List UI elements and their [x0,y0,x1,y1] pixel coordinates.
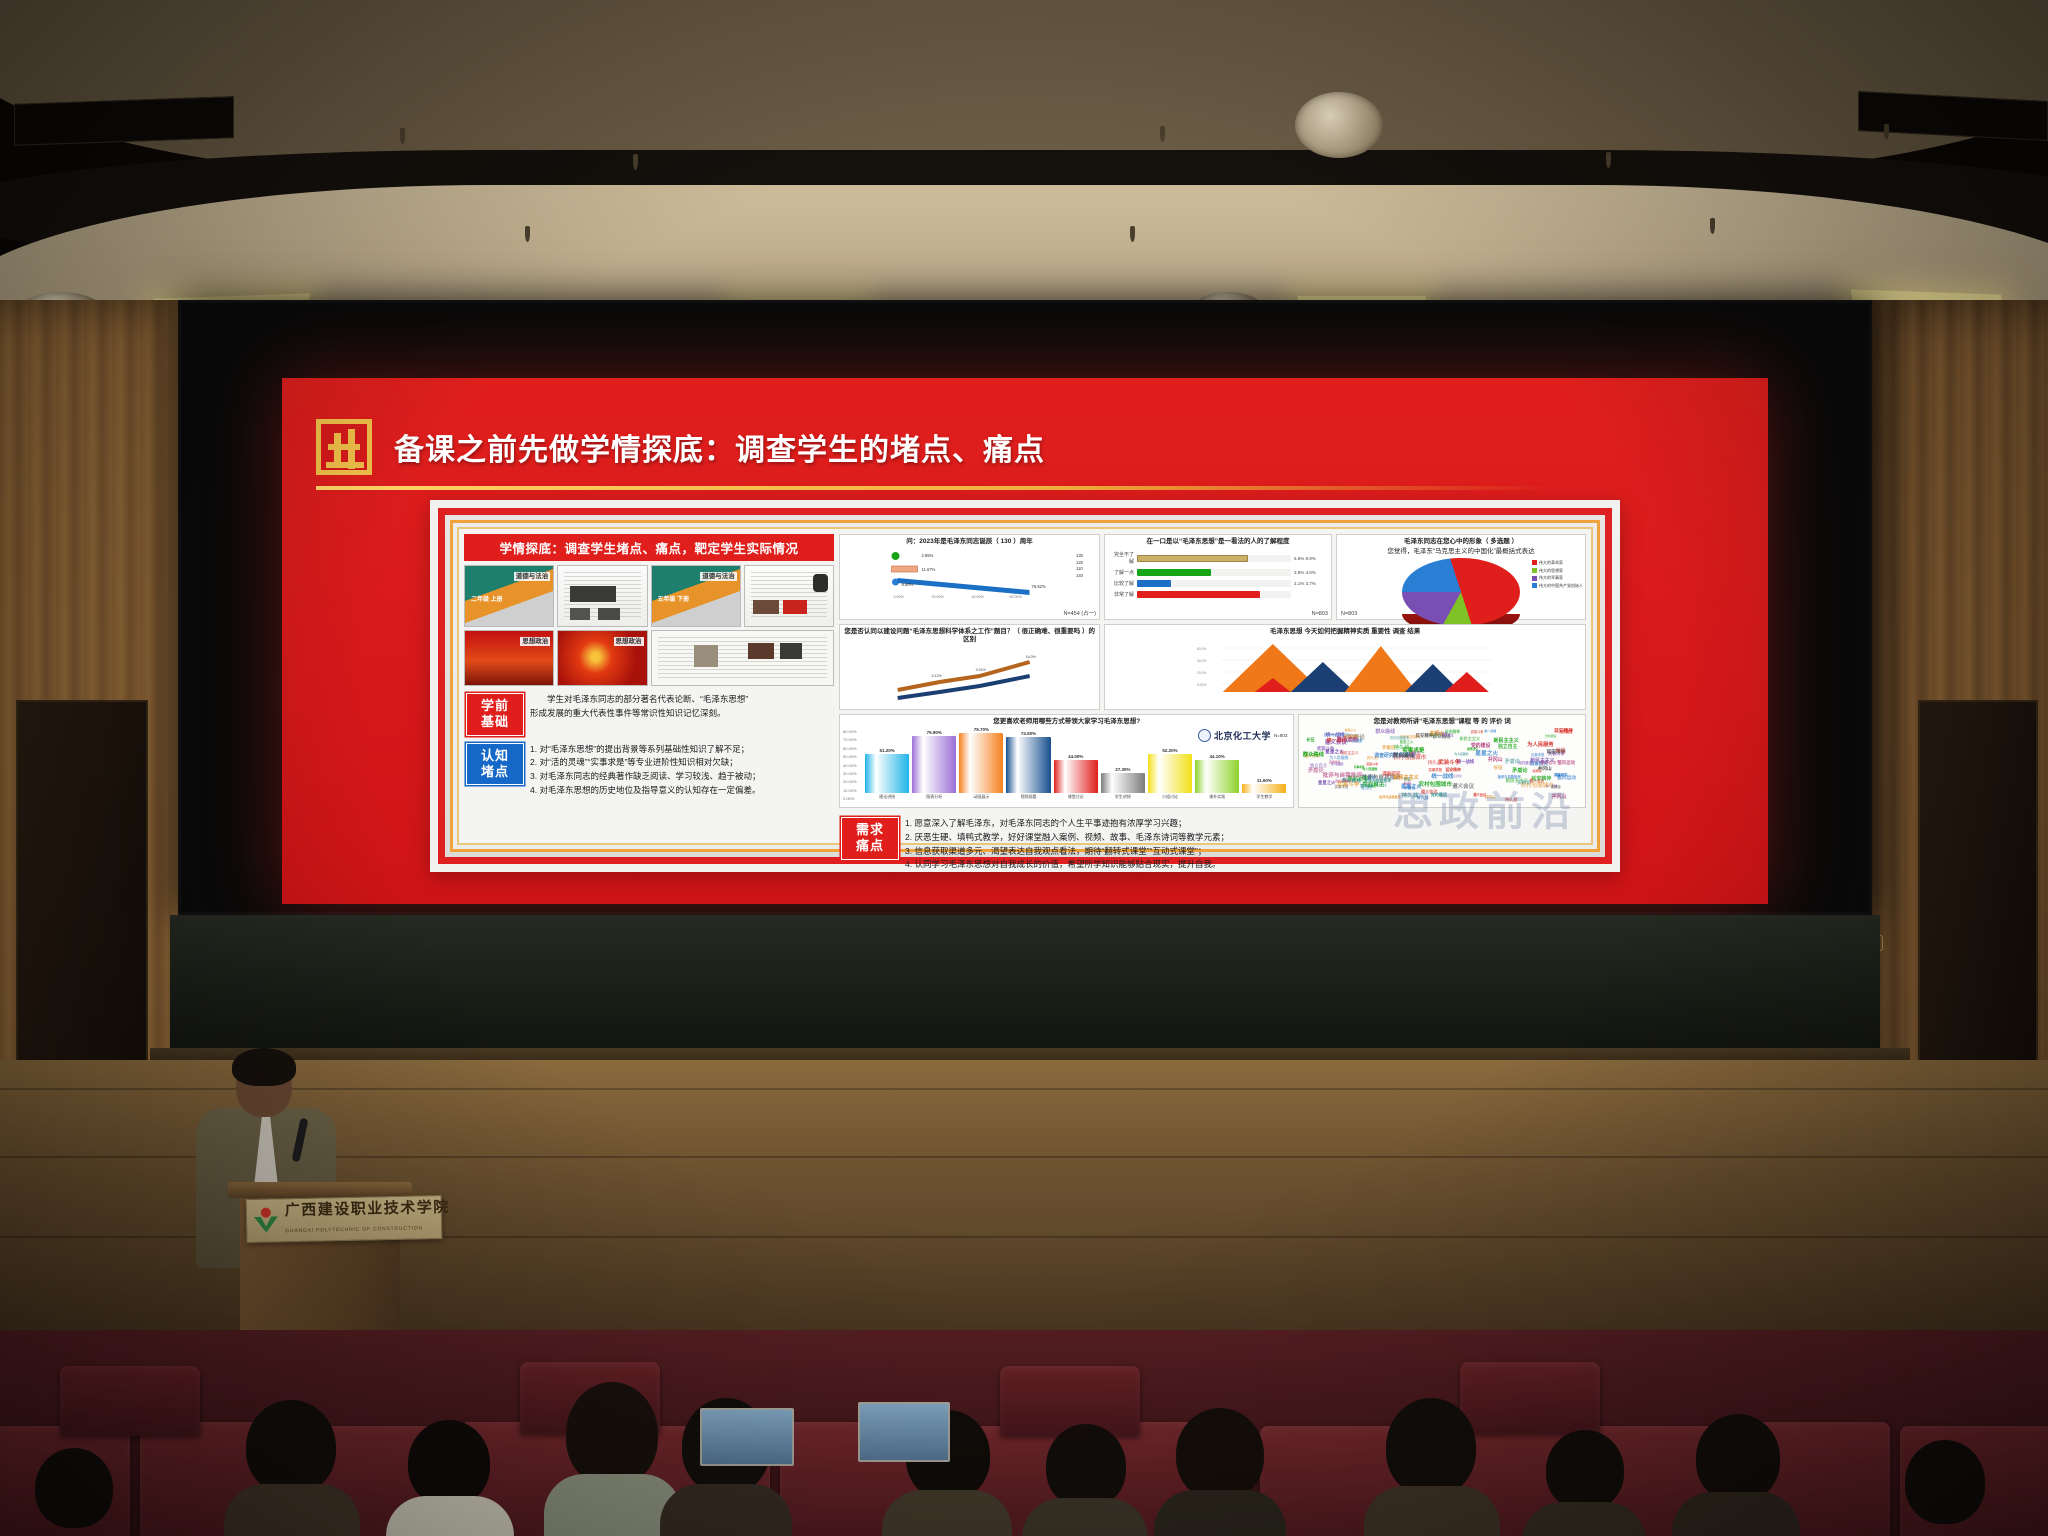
chart-wordcloud: 您是对教师所讲“毛泽东思想”课程 等 的 评价 词 实事求是群众路线独立自主矛盾… [1298,714,1586,808]
wordcloud-word: 井冈山 [1488,756,1503,763]
bar [1054,760,1098,793]
wordcloud-word: 持久战 [1428,760,1442,766]
poster-red-frame: 学情探底：调查学生堵点、痛点，靶定学生实际情况 道德与法治 二年级 上册 [438,508,1612,864]
wordcloud-word: 矛盾论 [1505,758,1520,765]
bar-category: 图表分析 [926,794,942,800]
audience-member [560,1382,664,1536]
bar [1006,737,1050,793]
bar-category: 理论讲授 [879,794,895,800]
chart-grade-line: 问：2023年是毛泽东同志诞辰（ 130 ）周年 2.85% 11.67% [839,534,1100,620]
wordcloud-word: 井冈山 [1485,795,1496,800]
pie-3d-graphic [1402,558,1520,634]
badge-needs-pain: 需求痛点 [841,817,899,860]
audience-member [236,1400,346,1536]
hbar-list: 完全不了解 5.6% 8.9% 了解一点 3.8% 4.0% [1108,548,1328,601]
wordcloud-word: 实践论 [1551,784,1561,789]
bar-column: 51.20%理论讲授 [865,748,909,800]
wordcloud-word: 党的建设 [1471,742,1491,749]
wordcloud-word: 批评与自我批评 [1379,794,1400,799]
y-tick: 50.00% [843,754,857,759]
text-line: 学生对毛泽东同志的部分著名代表论断、“毛泽东思想” [530,693,748,706]
bar-column: 74.50%视频观看 [1006,731,1050,800]
audience-member [30,1448,118,1536]
chart-methods-bar: 您更喜欢老师用哪些方式带领大家学习毛泽东思想? 北京化工大学 N=803 80.… [839,714,1294,808]
org-logo-group: 北京化工大学 N=803 [1198,729,1287,742]
textbook-cover: 道德与法治 五年级 下册 [651,565,741,627]
audience-member [1380,1398,1484,1536]
wordcloud-word: 延安精神 [1532,775,1552,782]
wordcloud-word: 长征 [1494,765,1503,771]
wordcloud-word: 持久战 [1417,795,1429,801]
bar [1148,754,1192,793]
text-line: 1. 对“毛泽东思想”的提出背景等系列基础性知识了解不足； [530,743,760,756]
wordcloud-word: 群众路线 [1303,750,1324,758]
chart-row-bottom: 您更喜欢老师用哪些方式带领大家学习毛泽东思想? 北京化工大学 N=803 80.… [839,714,1586,808]
wordcloud-word: 党的建设 [1545,734,1556,738]
bar-column: 75.90%图表分析 [912,730,956,800]
block-cognitive-text: 1. 对“毛泽东思想”的提出背景等系列基础性知识了解不足； 2. 对“活的灵魂”… [530,743,760,798]
y-tick: 0.00% [843,796,857,801]
plaque-name-en: GUANGXI POLYTECHNIC OF CONSTRUCTION [285,1225,423,1234]
wordcloud-word: 遵义会议 [1421,789,1438,795]
sprinkler [400,128,405,144]
text-line: 1. 愿意深入了解毛泽东，对毛泽东同志的个人生平事迹抱有浓厚学习兴趣； [905,817,1229,830]
svg-text:5.12%: 5.12% [932,674,943,678]
wordcloud-word: 武装斗争 [1438,758,1460,766]
ceiling-spotlight-1 [1295,92,1383,158]
svg-text:2.85%: 2.85% [922,553,934,558]
bar-category: 学生教学 [1256,794,1272,800]
chart-subtitle: 您觉得，毛泽东“马克思主义的中国化”最概括式表达 [1340,548,1582,556]
audience-member [1540,1430,1630,1536]
wordcloud-word: 批评与自我批评 [1323,770,1362,779]
block-pre-knowledge: 学前基础 学生对毛泽东同志的部分著名代表论断、“毛泽东思想” 形成发展的重大代表… [464,690,834,736]
legend-item: 伟大的军事家 [1532,574,1583,582]
audience-member [400,1420,498,1536]
bar-value: 11.60% [1257,778,1272,783]
chart-understanding-hbar: 在一口是以“毛泽东思想”是一看法的人的了解程度 完全不了解 5.6% 8.9% [1104,534,1332,620]
bar-column: 79.70%动画展示 [959,727,1003,800]
chart-title: 您更喜欢老师用哪些方式带领大家学习毛泽东思想? [843,718,1290,726]
legend-item: 伟大的中国共产党创始人 [1532,582,1583,590]
line-pair-svg: 5.12% 9.01% 16.0% [843,646,1096,702]
bar-category: 课堂讨论 [1068,794,1084,800]
wordcloud-word: 井冈山 [1551,793,1566,800]
bar-column: 44.00%课堂讨论 [1054,754,1098,800]
wordcloud-word: 实事求是 [1402,746,1424,754]
y-tick: 30.00% [843,771,857,776]
wordcloud-word: 群众路线 [1375,728,1395,735]
hbar-row: 完全不了解 5.6% 8.9% [1112,551,1324,565]
bar [1242,784,1286,793]
bar-column: 11.60%学生教学 [1242,778,1286,800]
block-cognitive-blocks: 认知堵点 1. 对“毛泽东思想”的提出背景等系列基础性知识了解不足； 2. 对“… [464,740,834,798]
ceiling [0,0,2048,330]
hbar-label: 比较了解 [1112,580,1134,587]
wordcloud-word: 实事求是 [1329,760,1340,764]
wordcloud-word: 实践论 [1453,774,1462,778]
textbook-title: 道德与法治 [514,572,551,581]
sprinkler [633,154,638,170]
laptop[interactable] [700,1408,794,1466]
legend-item: 伟大的思想家 [1532,567,1583,575]
wordcloud-word: 延安精神 [1554,728,1573,734]
wordcloud-word: 持久战 [1505,797,1517,803]
chart-pie: 毛泽东同志在您心中的形象（ 多选题 ） 您觉得，毛泽东“马克思主义的中国化”最概… [1336,534,1586,620]
line-chart-svg: 2.85% 11.67% 8.86% 76.62% 0.00% 20.00% 4… [843,548,1096,600]
wordcloud-word: 遵义会议 [1452,782,1474,790]
textbook-grid: 道德与法治 二年级 上册 道德与法治 [464,565,834,686]
door-right[interactable] [1918,700,2038,1080]
bar [959,733,1003,793]
y-tick: 10.00% [843,788,857,793]
wordcloud-word: 星星之火 [1345,728,1356,732]
svg-text:76.62%: 76.62% [1032,584,1046,589]
projection-screen: 备课之前先做学情探底：调查学生的堵点、痛点 学情探底：调查学生堵点、痛点，靶定学… [282,378,1768,904]
bar-category: 学生讲授 [1115,794,1131,800]
legend-item: 伟大的革命家 [1532,559,1583,567]
block-needs-text: 1. 愿意深入了解毛泽东，对毛泽东同志的个人生平事迹抱有浓厚学习兴趣； 2. 厌… [905,817,1229,872]
hbar-label: 非常了解 [1112,591,1134,598]
org-name: 北京化工大学 [1214,729,1271,742]
poster-left-column: 学情探底：调查学生堵点、痛点，靶定学生实际情况 道德与法治 二年级 上册 [464,534,834,838]
auditorium-photo: 休息室 Lounge 休息室 Lounge 备课之前先做学情探底：调查学生的堵点… [0,0,2048,1536]
bar-value: 79.70% [974,727,989,732]
sprinkler [525,226,530,242]
wordcloud-word: 实事求是 [1354,765,1365,769]
bar-column: 27.30%学生讲授 [1101,767,1145,801]
poster-body: 学情探底：调查学生堵点、痛点，靶定学生实际情况 道德与法治 二年级 上册 [457,527,1593,845]
y-axis-ticks: 80.00% 70.00% 60.00% 50.00% 40.00% 30.00… [843,729,857,801]
wordcloud-word: 星星之火 [1318,780,1335,786]
svg-text:8.86%: 8.86% [902,582,914,587]
bar [865,754,909,793]
textbook-cover: 思想政治 [464,630,554,686]
door-left[interactable] [16,700,148,1080]
wordcloud-word: 批评与自我批评 [1364,779,1391,784]
chart-sample-size: N=803 [1274,733,1287,738]
textbook-grade: 五年级 下册 [658,594,690,603]
sprinkler [1884,124,1889,140]
audience-member [1690,1414,1786,1536]
wordcloud-word: 统一战线 [1431,772,1453,780]
svg-text:0.00%: 0.00% [894,595,905,599]
university-logo-icon [253,1207,280,1234]
wordcloud-word: 新民主主义 [1394,774,1419,781]
hbar-label: 完全不了解 [1112,551,1134,565]
svg-text:60.0%: 60.0% [1197,647,1207,651]
seat [60,1366,200,1436]
text-line: 3. 信息获取渠道多元、渴望表达自我观点看法，期待“翻转式课堂”“互动式课堂”； [905,845,1229,858]
wordcloud-word: 独立自主 [1310,763,1327,769]
bar-value: 44.00% [1068,754,1083,759]
chart-sample-size: N=803 [1312,611,1328,617]
block-needs-pain: 需求痛点 1. 愿意深入了解毛泽东，对毛泽东同志的个人生平事迹抱有浓厚学习兴趣；… [839,814,1586,872]
poster-right-column: 问：2023年是毛泽东同志诞辰（ 130 ）周年 2.85% 11.67% [839,534,1586,838]
chart-line-pair: 您是否认同以建设问题“毛泽东思想科学体系之工作”题目？（ 很正确难、很重要吗 ）… [839,624,1100,710]
text-line: 2. 对“活的灵魂”“实事求是”等专业进阶性知识相对欠缺； [530,756,760,769]
bar-column: 44.10%课外实践 [1195,754,1239,800]
wordcloud-word: 矛盾论 [1512,767,1528,774]
poster-banner: 学情探底：调查学生堵点、痛点，靶定学生实际情况 [464,534,834,561]
poster-container: 学情探底：调查学生堵点、痛点，靶定学生实际情况 道德与法治 二年级 上册 [430,500,1620,872]
audience-member [1170,1408,1270,1536]
wordcloud-word: 为人民服务 [1527,740,1553,748]
svg-text:40.0%: 40.0% [1197,659,1207,663]
wordcloud-word: 星星之火 [1401,783,1422,790]
hbar-row: 了解一点 3.8% 4.0% [1112,569,1324,576]
y-tick: 60.00% [843,746,857,751]
wordcloud-word: 武装斗争 [1366,762,1378,766]
wordcloud-word: 武装斗争 [1471,729,1484,734]
wordcloud-word: 实事求是 [1531,752,1544,757]
hbar-row: 比较了解 2.1% 3.7% [1112,580,1324,587]
poster-orange-frame: 学情探底：调查学生堵点、痛点，靶定学生实际情况 道德与法治 二年级 上册 [450,520,1600,852]
university-seal-icon [1198,729,1211,742]
chart-title: 您是否认同以建设问题“毛泽东思想科学体系之工作”题目？（ 很正确难、很重要吗 ）… [843,628,1096,644]
sprinkler [1130,226,1135,242]
chart-title: 毛泽东思想 今天如何把握精神实质 重要性 调查 结果 [1108,628,1582,636]
bar-category: 课外实践 [1209,794,1225,800]
bar-value: 74.50% [1021,731,1036,736]
textbook-title: 思想政治 [520,637,550,646]
sprinkler [1710,218,1715,234]
wordcloud-word: 整风运动 [1337,736,1358,743]
wordcloud-word: 独立自主 [1498,743,1517,750]
title-underline [316,486,1556,490]
wordcloud-word: 为人民服务 [1454,752,1468,756]
bar-value: 27.30% [1115,767,1130,772]
textbook-title: 道德与法治 [700,572,737,581]
chart-sample-size: N=803 [1341,611,1357,617]
textbook-cover: 道德与法治 二年级 上册 [464,565,554,627]
wordcloud-word: 新民主主义 [1340,751,1358,756]
chart-option-list: 130 120 110 140 [1076,553,1083,579]
bar-value: 51.20% [879,748,894,753]
area-chart-svg: 60.0% 40.0% 20.0% 0.00% [1108,638,1582,696]
badge-pre-knowledge: 学前基础 [466,693,524,736]
audience-member [1040,1424,1132,1536]
badge-cognitive-blocks: 认知堵点 [466,743,524,786]
chart-title: 毛泽东同志在您心中的形象（ 多选题 ） [1340,538,1582,546]
wordcloud-word: 农村包围城市 [1390,735,1409,740]
svg-text:0.00%: 0.00% [1197,683,1207,687]
bar-value: 52.20% [1162,748,1177,753]
svg-text:11.67%: 11.67% [922,567,936,572]
block-pre-knowledge-text: 学生对毛泽东同志的部分著名代表论断、“毛泽东思想” 形成发展的重大代表性事件等常… [530,693,748,721]
bar-category: 动画展示 [973,794,989,800]
textbook-title: 思想政治 [614,637,644,646]
wordcloud-word: 农村包围城市 [1419,780,1452,788]
chart-row-top: 问：2023年是毛泽东同志诞辰（ 130 ）周年 2.85% 11.67% [839,534,1586,620]
wordcloud-area: 实事求是群众路线独立自主矛盾论实践论持久战星星之火为人民服务农村包围城市调查研究… [1302,728,1582,804]
bar [912,736,956,793]
chart-title: 您是对教师所讲“毛泽东思想”课程 等 的 评价 词 [1302,718,1582,726]
wordcloud-word: 为人民服务 [1362,766,1377,771]
option: 130 [1076,553,1083,560]
y-tick: 80.00% [843,729,857,734]
hbar-row: 非常了解 [1112,591,1324,598]
svg-text:20.00%: 20.00% [932,595,945,599]
wordcloud-word: 长征 [1306,737,1314,743]
audience-member [1900,1440,1992,1536]
sprinkler [1160,126,1165,142]
y-tick: 20.00% [843,779,857,784]
textbook-spread [651,630,835,686]
textbook-page [744,565,834,627]
wordcloud-word: 遵义会议 [1473,792,1486,797]
ceiling-vent-left [14,96,234,146]
text-line: 4. 认同学习毛泽东思想对自我成长的价值，希望所学知识能够贴合现实，提升自我。 [905,858,1229,871]
hbar-label: 了解一点 [1112,569,1134,576]
wordcloud-word: 井冈山 [1430,730,1445,737]
wordcloud-word: 统一战线 [1484,729,1496,733]
bar-value: 44.10% [1210,754,1225,759]
text-line: 2. 厌恶生硬、填鸭式教学，好好课堂融入案例、视频、故事、毛泽东诗词等教学元素； [905,831,1229,844]
laptop[interactable] [858,1402,950,1462]
chart-sample-size: N=454 (占一) [1063,609,1096,617]
textbook-page [557,565,647,627]
textbook-cover: 思想政治 [557,630,647,686]
svg-text:60.00%: 60.00% [1010,595,1023,599]
wordcloud-word: 调查研究 [1554,772,1567,777]
chart-row-middle: 您是否认同以建设问题“毛泽东思想科学体系之工作”题目？（ 很正确难、很重要吗 ）… [839,624,1586,710]
bar [1195,760,1239,793]
wordcloud-word: 实践论 [1517,780,1531,786]
chinese-seal-icon [316,419,372,475]
wordcloud-word: 持久战 [1402,791,1418,799]
svg-text:9.01%: 9.01% [976,668,987,672]
wordcloud-word: 整风运动 [1557,760,1575,766]
podium-plaque: 广西建设职业技术学院 GUANGXI POLYTECHNIC OF CONSTR… [246,1195,443,1243]
svg-text:20.0%: 20.0% [1197,671,1207,675]
y-tick: 40.00% [843,763,857,768]
wordcloud-word: 实践论 [1532,768,1541,773]
wordcloud-word: 调查研究 [1374,752,1394,759]
slide-title: 备课之前先做学情探底：调查学生的堵点、痛点 [394,425,1045,469]
sprinkler [1606,152,1611,168]
speaker-hair [232,1048,296,1086]
chart-title: 在一口是以“毛泽东思想”是一看法的人的了解程度 [1108,538,1328,546]
y-tick: 70.00% [843,737,857,742]
textbook-grade: 二年级 上册 [471,594,503,603]
wordcloud-word: 长征 [1555,747,1565,754]
option: 110 [1076,566,1083,573]
bar-category: 视频观看 [1021,794,1037,800]
text-line: 3. 对毛泽东同志的经典著作缺乏阅读、学习较浅、趋于被动； [530,770,760,783]
bar-category: 小组讨论 [1162,794,1178,800]
text-line: 形成发展的重大代表性事件等常识性知识记忆深刻。 [530,707,748,720]
chart-triangle-area: 毛泽东思想 今天如何把握精神实质 重要性 调查 结果 [1104,624,1586,710]
bar-value: 75.90% [927,730,942,735]
wordcloud-word: 整风运动 [1540,760,1556,766]
wordcloud-word: 矛盾论 [1382,745,1395,751]
option: 140 [1076,573,1083,580]
bar [1101,773,1145,794]
plaque-name-cn: 广西建设职业技术学院 [285,1199,450,1219]
pie-legend: 伟大的革命家 伟大的思想家 伟大的军事家 伟大的中国共产党创始人 [1532,559,1583,589]
bar-column: 52.20%小组讨论 [1148,748,1192,800]
svg-text:16.0%: 16.0% [1026,655,1037,659]
slide-header: 备课之前先做学情探底：调查学生的堵点、痛点 [316,412,1744,482]
chart-title: 问：2023年是毛泽东同志诞辰（ 130 ）周年 [843,538,1096,546]
text-line: 4. 对毛泽东思想的历史地位及指导意义的认知存在一定偏差。 [530,784,760,797]
svg-text:40.00%: 40.00% [972,595,985,599]
stage-front-panel [170,915,1880,1055]
